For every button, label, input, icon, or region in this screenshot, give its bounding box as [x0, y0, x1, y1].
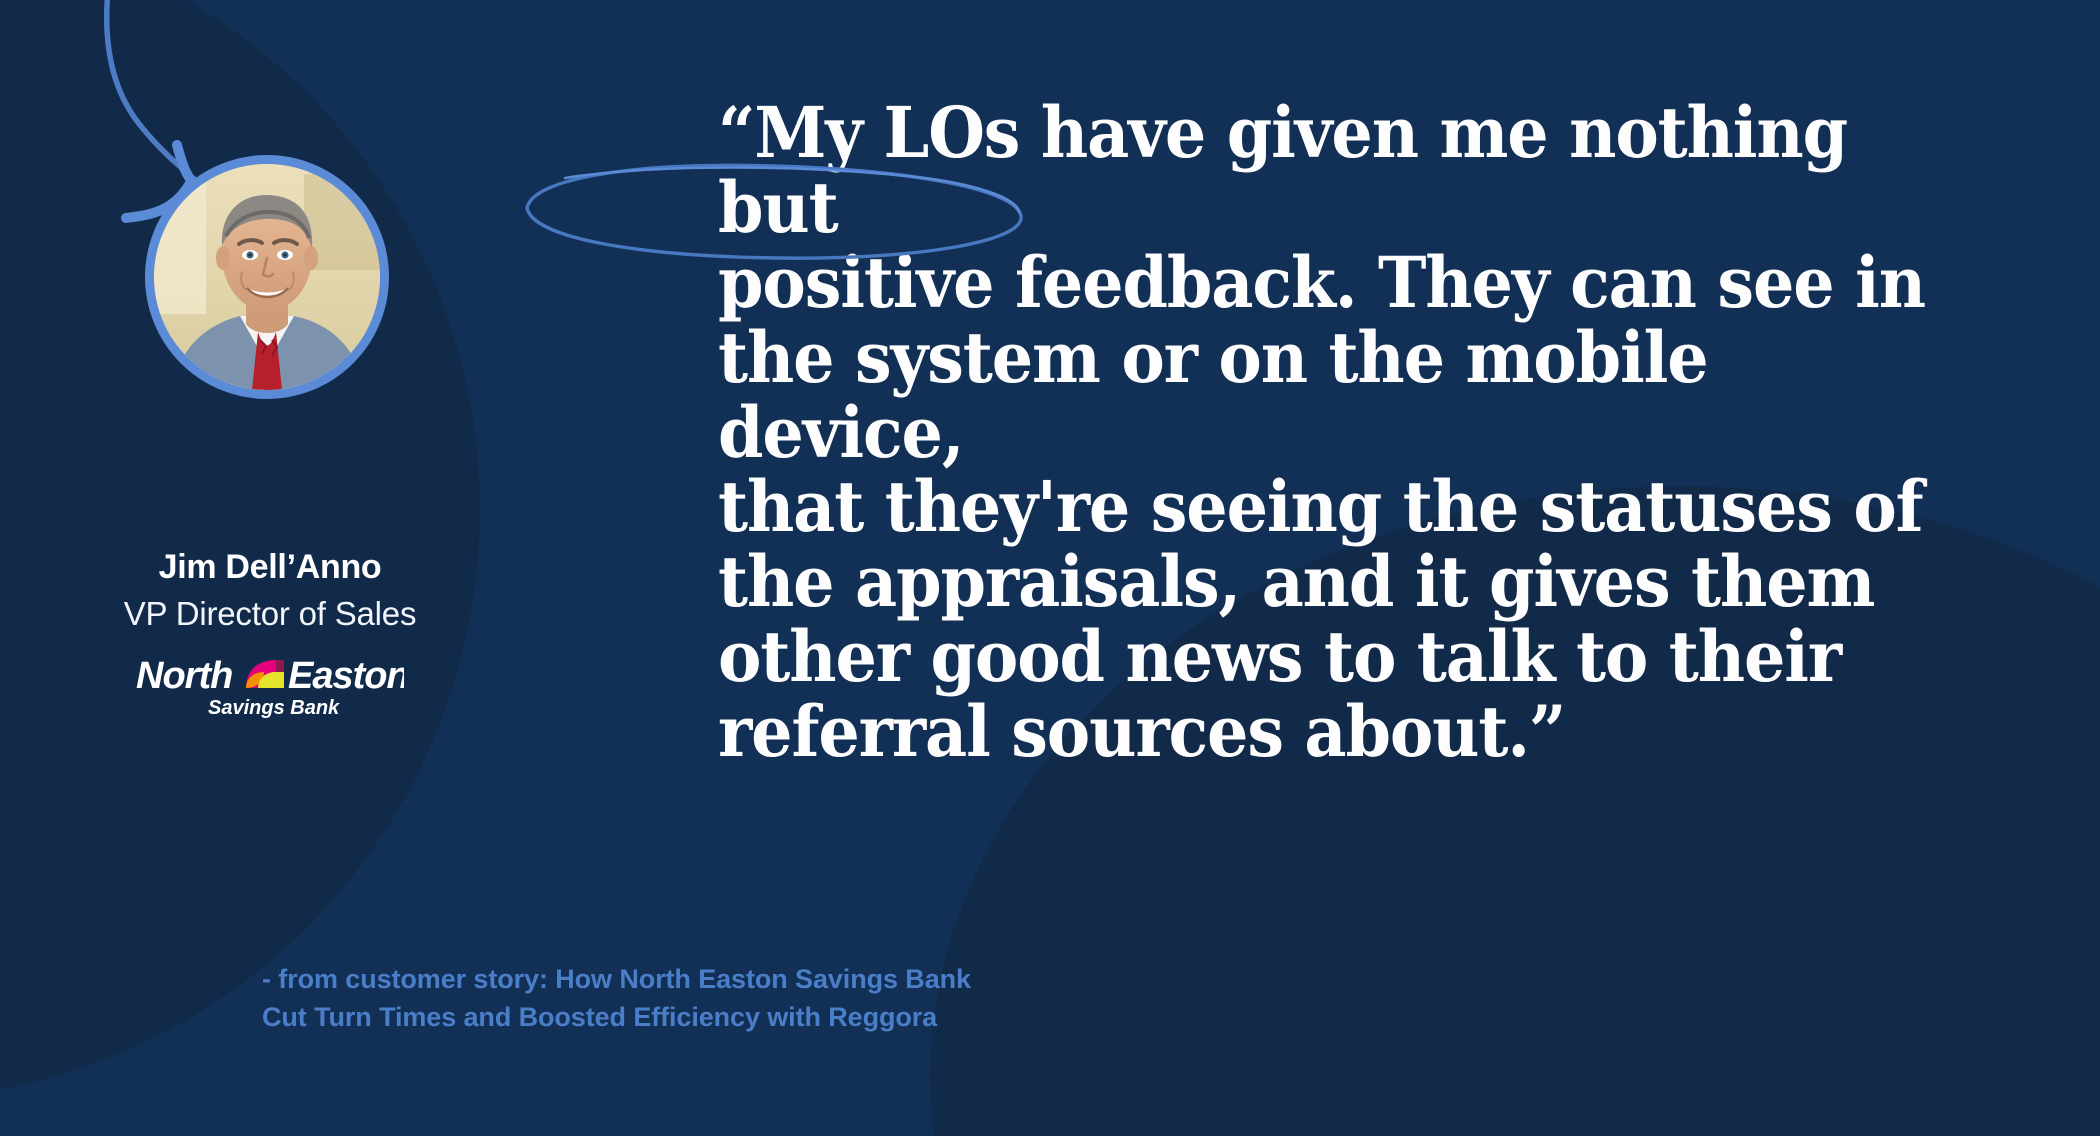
quote-line: the appraisals, and it gives them — [718, 545, 1946, 620]
attribution-line-1: - from customer story: How North Easton … — [262, 960, 971, 998]
quote-line: positive feedback. They can see in — [718, 246, 1946, 321]
testimonial-slide: Jim Dell’Anno VP Director of Sales North… — [0, 0, 2100, 1136]
quote-line: referral sources about.” — [718, 695, 1946, 770]
speaker-title: VP Director of Sales — [40, 593, 500, 636]
svg-text:North: North — [136, 655, 232, 697]
attribution-line-2: Cut Turn Times and Boosted Efficiency wi… — [262, 998, 971, 1036]
speaker-name: Jim Dell’Anno — [40, 548, 500, 587]
quote-line: other good news to talk to their — [718, 620, 1946, 695]
speaker-info: Jim Dell’Anno VP Director of Sales North… — [40, 548, 500, 718]
svg-text:Savings Bank: Savings Bank — [208, 697, 340, 718]
avatar — [145, 155, 389, 399]
north-easton-savings-bank-logo: North Easton Savings Bank — [40, 654, 500, 718]
quote-line: that they're seeing the statuses of — [718, 470, 1946, 545]
quote-text: “My LOs have given me nothing but positi… — [718, 96, 1946, 770]
svg-text:Easton: Easton — [288, 655, 404, 697]
attribution: - from customer story: How North Easton … — [262, 960, 971, 1037]
quote-line: the system or on the mobile device, — [718, 321, 1946, 471]
quote-line: “My LOs have given me nothing but — [718, 96, 1946, 246]
